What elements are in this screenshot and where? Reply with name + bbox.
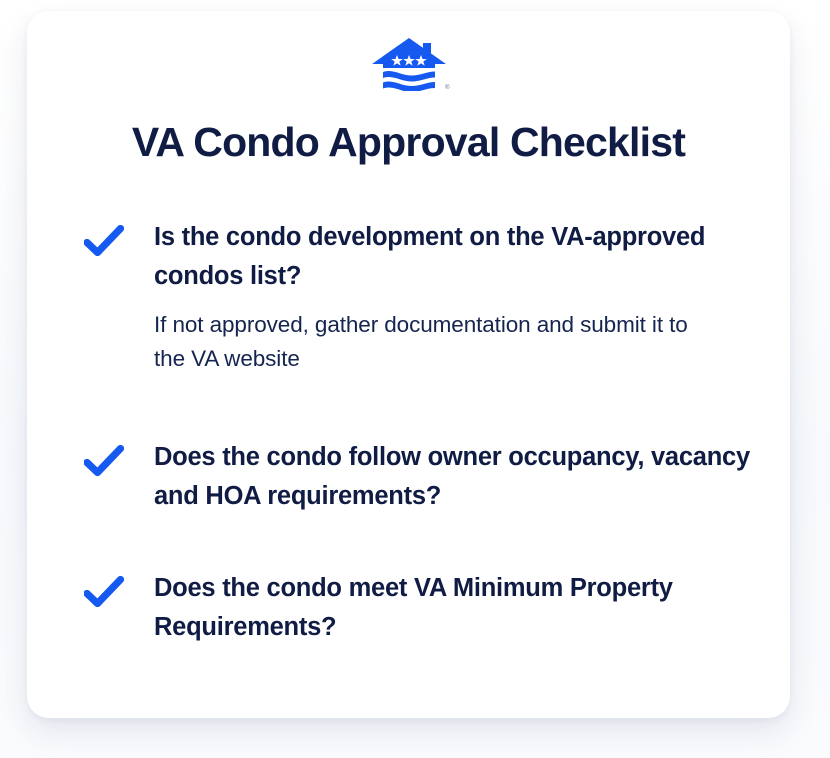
check-icon [84, 438, 130, 477]
checklist-card: ® VA Condo Approval Checklist Is the con… [27, 11, 790, 718]
check-icon [84, 218, 130, 257]
checklist-item-subtext: If not approved, gather documentation an… [154, 308, 714, 376]
page-background: ® VA Condo Approval Checklist Is the con… [0, 0, 830, 758]
checklist-item-heading: Does the condo follow owner occupancy, v… [154, 438, 760, 516]
registered-trademark-mark: ® [445, 85, 449, 91]
checklist-item-body: Does the condo meet VA Minimum Property … [130, 569, 760, 647]
checklist-item: Does the condo meet VA Minimum Property … [84, 569, 760, 647]
house-with-three-stars-and-waves-logo: ® [371, 37, 447, 91]
checklist-item-body: Does the condo follow owner occupancy, v… [130, 438, 760, 516]
checklist-item: Is the condo development on the VA-appro… [84, 218, 760, 376]
checklist-item-heading: Is the condo development on the VA-appro… [154, 218, 760, 296]
page-title: VA Condo Approval Checklist [27, 119, 790, 166]
checklist-item: Does the condo follow owner occupancy, v… [84, 438, 760, 516]
checklist: Is the condo development on the VA-appro… [84, 218, 760, 647]
brand-logo: ® [27, 37, 790, 91]
check-icon [84, 569, 130, 608]
checklist-item-body: Is the condo development on the VA-appro… [130, 218, 760, 376]
checklist-item-heading: Does the condo meet VA Minimum Property … [154, 569, 760, 647]
